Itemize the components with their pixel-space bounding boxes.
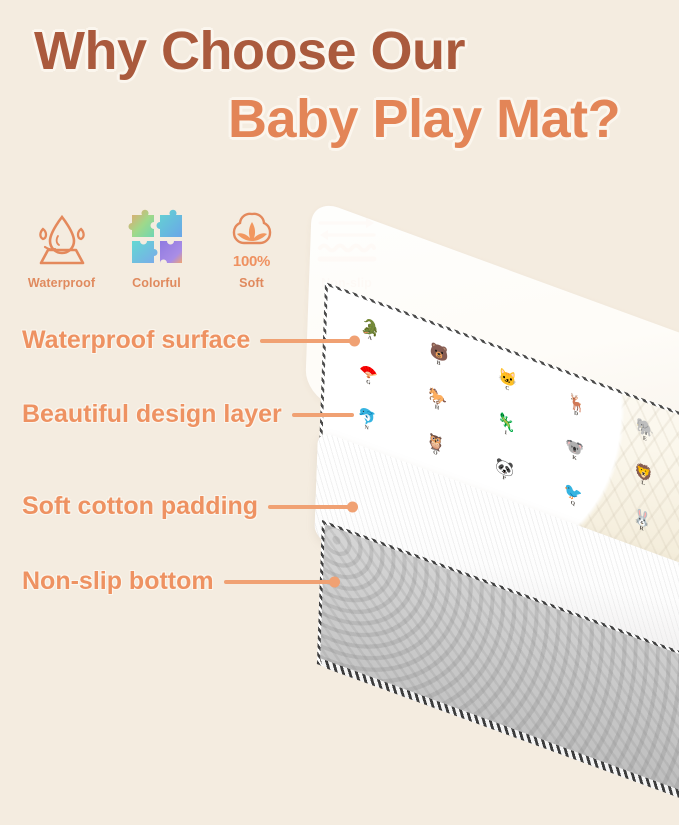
- callout-waterproof-surface: Waterproof surface: [22, 326, 356, 355]
- badge-label-soft: Soft: [239, 276, 264, 290]
- animal-word: K: [572, 456, 577, 463]
- callout-design-layer: Beautiful design layer: [22, 400, 354, 429]
- leader-line: [268, 505, 354, 509]
- edge-binding: [320, 658, 679, 824]
- animal-word: L: [641, 481, 645, 488]
- badge-label-colorful: Colorful: [132, 276, 181, 290]
- headline-block: Why Choose Our Baby Play Mat?: [0, 24, 679, 146]
- headline-line-2: Baby Play Mat?: [0, 92, 679, 146]
- animal-word: P: [502, 476, 506, 483]
- callout-cotton-padding: Soft cotton padding: [22, 492, 354, 521]
- badge-soft: 100% Soft: [204, 204, 299, 290]
- animal-word: C: [505, 386, 509, 393]
- callout-label: Beautiful design layer: [22, 400, 282, 429]
- animal-word: N: [365, 425, 369, 432]
- animal-word: R: [639, 526, 643, 533]
- animal-word: B: [437, 361, 441, 368]
- callout-label: Soft cotton padding: [22, 492, 258, 521]
- animal-word: A: [368, 336, 372, 343]
- leader-line: [260, 339, 356, 343]
- animal-word: D: [574, 411, 578, 418]
- animal-word: I: [504, 431, 507, 437]
- animal-word: E: [643, 436, 647, 443]
- waterproof-droplet-icon: [31, 208, 93, 270]
- colorful-puzzle-icon: [126, 208, 188, 270]
- badge-colorful: Colorful: [109, 208, 204, 290]
- animal-word: Q: [571, 501, 576, 508]
- callout-label: Waterproof surface: [22, 326, 250, 355]
- animal-word: G: [366, 380, 371, 387]
- leader-line: [224, 580, 336, 584]
- callout-non-slip-bottom: Non-slip bottom: [22, 567, 336, 596]
- leader-line: [292, 413, 354, 417]
- badge-waterproof: Waterproof: [14, 208, 109, 290]
- soft-cotton-icon: 100%: [220, 204, 284, 266]
- animal-word: H: [435, 406, 440, 413]
- headline-line-1: Why Choose Our: [0, 24, 679, 78]
- infographic-canvas: Why Choose Our Baby Play Mat? Waterproof: [0, 0, 679, 679]
- animal-word: O: [433, 451, 438, 458]
- callout-label: Non-slip bottom: [22, 567, 214, 596]
- soft-percent-text: 100%: [220, 253, 284, 270]
- badge-label-waterproof: Waterproof: [28, 276, 95, 290]
